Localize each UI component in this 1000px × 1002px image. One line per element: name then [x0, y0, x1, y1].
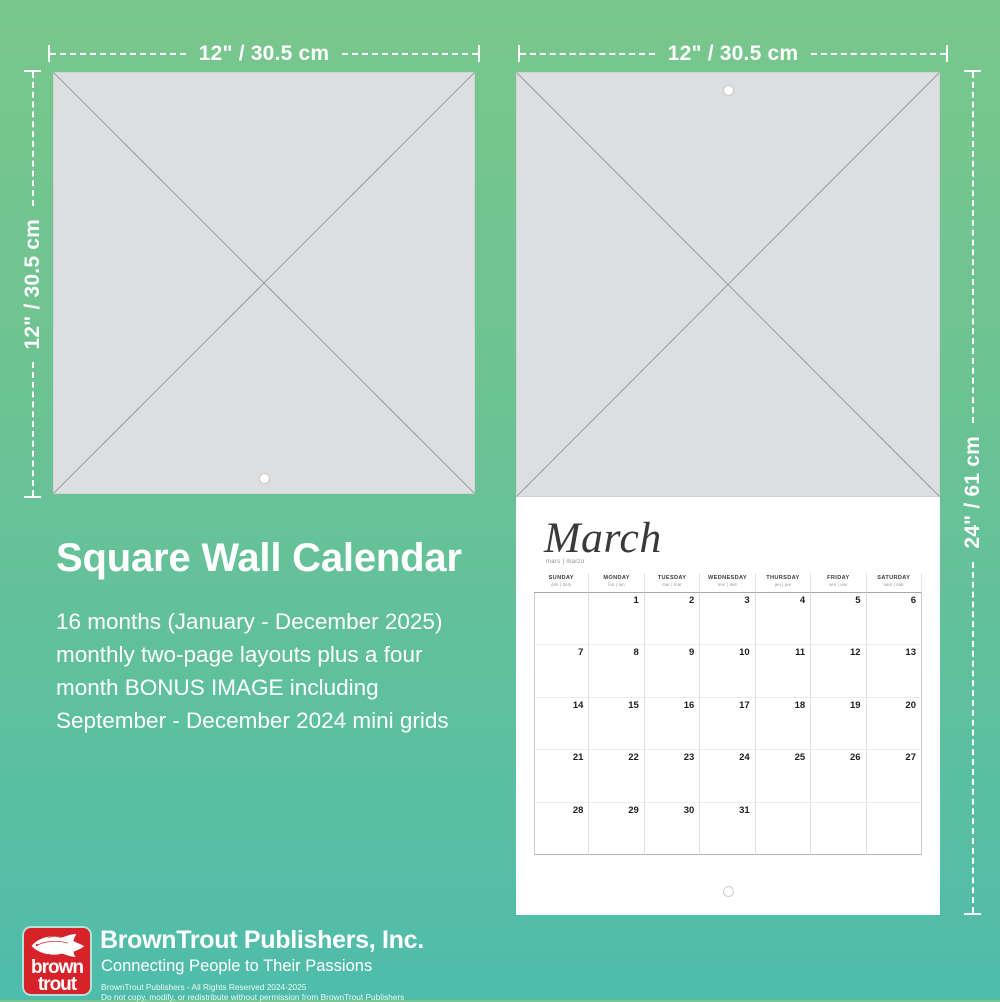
calendar-day-cell[interactable]: 16: [645, 698, 700, 750]
calendar-day-cell[interactable]: 28: [534, 803, 589, 855]
calendar-day-cell[interactable]: [811, 803, 866, 855]
rule-dash-right: [811, 53, 946, 55]
calendar-day-number: 23: [684, 752, 695, 763]
rule-dash-left: [520, 53, 655, 55]
calendar-day-cell[interactable]: 20: [867, 698, 922, 750]
calendar-day-number: 29: [628, 805, 639, 816]
calendar-day-cell[interactable]: [756, 803, 811, 855]
weekday-name-en: FRIDAY: [811, 575, 865, 582]
rule-cap-bottom: [964, 913, 981, 915]
left-panel-grommet-hole: [259, 473, 270, 484]
rule-dash-right: [342, 53, 478, 55]
calendar-day-cell[interactable]: 3: [700, 593, 755, 645]
calendar-day-number: 20: [905, 700, 916, 711]
calendar-day-cell[interactable]: 7: [534, 645, 589, 697]
calendar-day-number: 6: [911, 595, 916, 606]
weekday-name-alt: ven | vier: [811, 582, 865, 588]
calendar-grid-page: March mars | marzo SUNDAYdim | domMONDAY…: [516, 497, 940, 915]
rule-dash-top: [972, 72, 974, 423]
right-image-placeholder-panel: [516, 72, 940, 497]
calendar-day-number: 25: [795, 752, 806, 763]
calendar-day-number: 13: [905, 647, 916, 658]
rule-dash-top: [32, 72, 34, 206]
weekday-name-alt: lun | lun: [589, 582, 643, 588]
calendar-weekday-header-saturday: SATURDAYsam | sáb: [867, 573, 922, 593]
placeholder-cross-icon: [516, 72, 940, 497]
rule-dash-bottom: [32, 362, 34, 496]
calendar-day-cell[interactable]: 1: [589, 593, 644, 645]
calendar-grid: SUNDAYdim | domMONDAYlun | lunTUESDAYmar…: [534, 573, 922, 855]
weekday-name-en: THURSDAY: [756, 575, 810, 582]
calendar-day-number: 8: [634, 647, 639, 658]
calendar-day-number: 7: [578, 647, 583, 658]
product-description-line-4: September - December 2024 mini grids: [56, 704, 511, 737]
calendar-day-cell[interactable]: 18: [756, 698, 811, 750]
dimension-label-right-height: 24" / 61 cm: [962, 423, 983, 562]
rule-cap-bottom: [24, 496, 41, 498]
calendar-day-number: 5: [855, 595, 860, 606]
calendar-day-number: 24: [739, 752, 750, 763]
calendar-day-cell[interactable]: 27: [867, 750, 922, 802]
calendar-day-number: 17: [739, 700, 750, 711]
calendar-day-cell[interactable]: 13: [867, 645, 922, 697]
calendar-day-cell[interactable]: 29: [589, 803, 644, 855]
weekday-name-alt: dim | dom: [534, 582, 588, 588]
weekday-name-alt: jeu | jue: [756, 582, 810, 588]
calendar-day-cell[interactable]: 25: [756, 750, 811, 802]
calendar-day-cell[interactable]: 22: [589, 750, 644, 802]
weekday-name-alt: mar | mar: [645, 582, 699, 588]
calendar-weekday-header-wednesday: WEDNESDAYmer | mié: [700, 573, 755, 593]
calendar-day-number: 30: [684, 805, 695, 816]
weekday-name-en: WEDNESDAY: [700, 575, 754, 582]
dimension-label-right-width: 12" / 30.5 cm: [655, 43, 811, 64]
calendar-day-number: 2: [689, 595, 694, 606]
calendar-weekday-header-tuesday: TUESDAYmar | mar: [645, 573, 700, 593]
product-description-line-2: monthly two-page layouts plus a four: [56, 638, 511, 671]
calendar-day-number: 18: [795, 700, 806, 711]
calendar-day-cell[interactable]: 23: [645, 750, 700, 802]
calendar-day-cell[interactable]: 5: [811, 593, 866, 645]
dimension-rule-right-height: 24" / 61 cm: [962, 70, 983, 915]
calendar-month-title: March: [544, 517, 662, 560]
calendar-day-cell[interactable]: 2: [645, 593, 700, 645]
calendar-weekday-header-friday: FRIDAYven | vier: [811, 573, 866, 593]
calendar-day-number: 11: [795, 647, 805, 658]
left-image-placeholder-panel: [53, 72, 475, 494]
calendar-day-cell[interactable]: 30: [645, 803, 700, 855]
weekday-name-alt: mer | mié: [700, 582, 754, 588]
calendar-day-cell[interactable]: 17: [700, 698, 755, 750]
calendar-day-cell[interactable]: 4: [756, 593, 811, 645]
product-description-line-1: 16 months (January - December 2025): [56, 605, 511, 638]
weekday-name-en: SATURDAY: [867, 575, 921, 582]
calendar-day-cell[interactable]: 14: [534, 698, 589, 750]
dimension-rule-left-height: 12" / 30.5 cm: [22, 70, 43, 498]
dimension-rule-left-width: 12" / 30.5 cm: [48, 43, 480, 64]
right-panel-grommet-hole: [723, 85, 734, 96]
calendar-day-number: 14: [573, 700, 584, 711]
calendar-weekday-header-sunday: SUNDAYdim | dom: [534, 573, 589, 593]
browntrout-logo: brown trout: [24, 928, 90, 994]
rule-cap-end: [478, 45, 480, 62]
logo-word-trout: trout: [24, 975, 90, 994]
calendar-day-cell[interactable]: [867, 803, 922, 855]
copyright-line-1: BrownTrout Publishers - All Rights Reser…: [101, 982, 404, 992]
product-description-line-3: month BONUS IMAGE including: [56, 671, 511, 704]
dimension-label-left-height: 12" / 30.5 cm: [22, 206, 43, 362]
calendar-day-number: 15: [628, 700, 639, 711]
footer-bar: brown trout BrownTrout Publishers, Inc. …: [0, 920, 1000, 1000]
calendar-weekday-header-monday: MONDAYlun | lun: [589, 573, 644, 593]
calendar-day-cell[interactable]: 9: [645, 645, 700, 697]
weekday-name-alt: sam | sáb: [867, 582, 921, 588]
calendar-day-number: 26: [850, 752, 861, 763]
copyright-notice: BrownTrout Publishers - All Rights Reser…: [101, 982, 404, 1002]
trout-fish-icon: [28, 932, 86, 958]
calendar-day-number: 4: [800, 595, 805, 606]
calendar-day-number: 21: [573, 752, 584, 763]
calendar-day-number: 9: [689, 647, 694, 658]
weekday-name-en: MONDAY: [589, 575, 643, 582]
calendar-day-cell[interactable]: 15: [589, 698, 644, 750]
weekday-name-en: SUNDAY: [534, 575, 588, 582]
product-headline: Square Wall Calendar: [56, 538, 462, 578]
calendar-day-number: 1: [634, 595, 639, 606]
calendar-day-cell[interactable]: 31: [700, 803, 755, 855]
calendar-day-cell[interactable]: 12: [811, 645, 866, 697]
rule-dash-bottom: [972, 562, 974, 913]
placeholder-cross-icon: [53, 72, 475, 494]
calendar-day-number: 10: [739, 647, 750, 658]
calendar-page-grommet-hole: [723, 886, 734, 897]
calendar-day-number: 28: [573, 805, 584, 816]
dimension-label-left-width: 12" / 30.5 cm: [186, 43, 342, 64]
calendar-day-number: 19: [850, 700, 861, 711]
calendar-day-number: 12: [850, 647, 861, 658]
calendar-day-cell[interactable]: 19: [811, 698, 866, 750]
rule-cap-end: [946, 45, 948, 62]
calendar-month-subtitle: mars | marzo: [546, 559, 585, 565]
calendar-day-number: 22: [628, 752, 639, 763]
rule-dash-left: [50, 53, 186, 55]
calendar-day-cell[interactable]: 24: [700, 750, 755, 802]
calendar-day-cell[interactable]: [534, 593, 589, 645]
calendar-day-number: 3: [744, 595, 749, 606]
calendar-day-cell[interactable]: 26: [811, 750, 866, 802]
calendar-day-number: 31: [739, 805, 750, 816]
calendar-day-cell[interactable]: 6: [867, 593, 922, 645]
publisher-tagline: Connecting People to Their Passions: [101, 958, 372, 975]
calendar-weekday-header-thursday: THURSDAYjeu | jue: [756, 573, 811, 593]
calendar-day-cell[interactable]: 11: [756, 645, 811, 697]
product-description: 16 months (January - December 2025)month…: [56, 605, 511, 737]
copyright-line-2: Do not copy, modify, or redistribute wit…: [101, 992, 404, 1002]
publisher-name: BrownTrout Publishers, Inc.: [100, 928, 424, 953]
weekday-name-en: TUESDAY: [645, 575, 699, 582]
calendar-day-number: 27: [905, 752, 916, 763]
dimension-rule-right-width: 12" / 30.5 cm: [518, 43, 948, 64]
calendar-day-cell[interactable]: 10: [700, 645, 755, 697]
calendar-day-cell[interactable]: 21: [534, 750, 589, 802]
calendar-day-cell[interactable]: 8: [589, 645, 644, 697]
calendar-day-number: 16: [684, 700, 695, 711]
